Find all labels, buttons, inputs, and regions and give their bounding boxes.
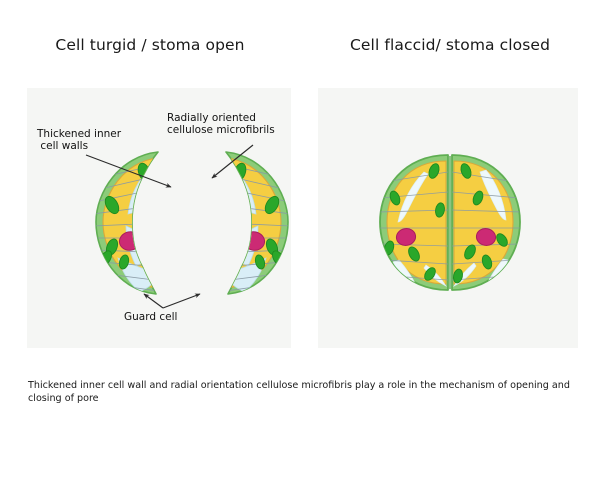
figure-caption: Thickened inner cell wall and radial ori… <box>28 380 576 405</box>
figure-stage: Cell turgid / stoma open Cell flaccid/ s… <box>0 0 600 479</box>
diagram-panel-closed <box>318 88 578 348</box>
label-thickened-inner-cell-walls: Thickened inner cell walls <box>37 128 121 153</box>
label-guard-cell: Guard cell <box>124 311 177 323</box>
panel-title-right: Cell flaccid/ stoma closed <box>300 36 600 54</box>
panel-title-left: Cell turgid / stoma open <box>0 36 300 54</box>
label-radially-oriented-cellulose-microfibrils: Radially oriented cellulose microfibrils <box>167 112 275 137</box>
